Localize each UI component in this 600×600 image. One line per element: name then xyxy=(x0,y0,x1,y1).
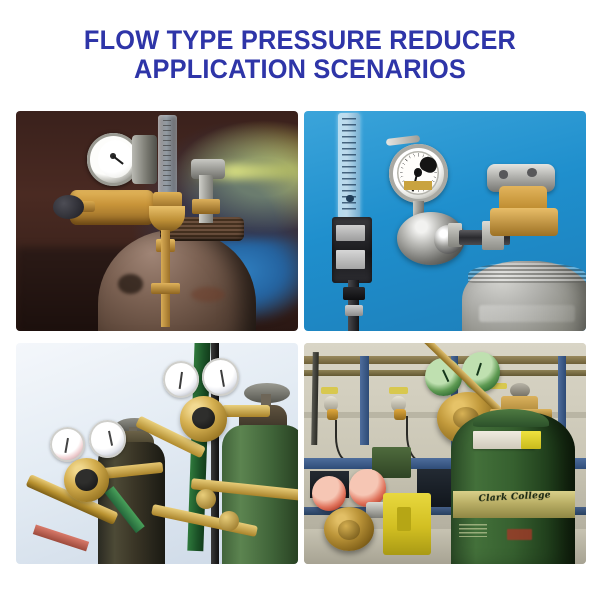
page-title-line-2: APPLICATION SCENARIOS xyxy=(18,55,582,84)
flowmeter-label-upper xyxy=(336,225,364,240)
cylinder-red-mark xyxy=(507,529,532,540)
black-gas-cylinder xyxy=(98,442,166,564)
brass-regulator-lower-knob xyxy=(75,469,98,491)
wall-regulator-knob-1 xyxy=(327,409,338,420)
gallery-image-bottom-left[interactable]: Two brass dual-gauge pressure regulators… xyxy=(16,343,298,564)
handwheel-hole-2 xyxy=(527,168,537,177)
blue-column-1 xyxy=(360,356,368,444)
gallery-image-top-left[interactable]: Brass flow-type pressure reducer with pr… xyxy=(16,111,298,331)
cylinder-embossed-text xyxy=(479,305,575,323)
cylinder-hazard-tag xyxy=(521,431,541,449)
pressure-gauge-case xyxy=(132,135,157,183)
flowmeter-outlet-nut-2 xyxy=(345,305,363,316)
cylinder-stencil-marks xyxy=(459,524,487,537)
red-pressure-gauge-2 xyxy=(349,469,386,507)
page-root: FLOW TYPE PRESSURE REDUCER APPLICATION S… xyxy=(0,0,600,600)
brass-manifold-knob-2 xyxy=(219,511,239,531)
outlet-nut-lower xyxy=(151,283,179,294)
yellow-bracket-1 xyxy=(321,387,338,394)
page-title: FLOW TYPE PRESSURE REDUCER APPLICATION S… xyxy=(0,26,600,84)
red-pressure-gauge-1 xyxy=(312,476,346,511)
green-pressure-gauge-2 xyxy=(462,352,500,392)
pressure-gauge-lower-right xyxy=(89,420,126,458)
cylinder-valve-nut xyxy=(192,199,220,214)
flowmeter-label-lower xyxy=(336,250,364,270)
yellow-equipment-slot xyxy=(397,507,411,531)
outlet-pipe xyxy=(161,230,170,327)
regulator-adjusting-knob xyxy=(53,195,84,219)
page-title-line-1: FLOW TYPE PRESSURE REDUCER xyxy=(18,26,582,55)
brass-manifold-knob-1 xyxy=(196,489,216,509)
gallery-image-bottom-right[interactable]: Clark College Workshop bench with green … xyxy=(304,343,586,564)
flowmeter-float xyxy=(346,195,353,202)
pressure-gauge-lower-left xyxy=(50,427,85,462)
brass-valve-outlet xyxy=(490,208,558,237)
cylinder-neck-ring xyxy=(468,263,586,283)
brass-inlet-arm-upper xyxy=(222,405,270,417)
flowmeter-outlet-nut xyxy=(343,287,364,300)
cylinder-rust-spot xyxy=(118,274,143,294)
pressure-gauge-screws xyxy=(404,181,432,190)
red-hose xyxy=(33,525,90,552)
flowmeter-scale xyxy=(163,120,171,190)
brass-regulator-secondary-knob xyxy=(338,520,361,540)
wall-regulator-knob-2 xyxy=(394,409,405,420)
cylinder-handwritten-text: Clark College xyxy=(478,490,564,519)
gallery-image-top-right[interactable]: Chrome-plated flow regulator with gradua… xyxy=(304,111,586,331)
brass-regulator-upper-knob xyxy=(192,407,215,429)
yellow-bracket-2 xyxy=(389,387,409,394)
image-gallery-grid: Brass flow-type pressure reducer with pr… xyxy=(16,111,586,564)
